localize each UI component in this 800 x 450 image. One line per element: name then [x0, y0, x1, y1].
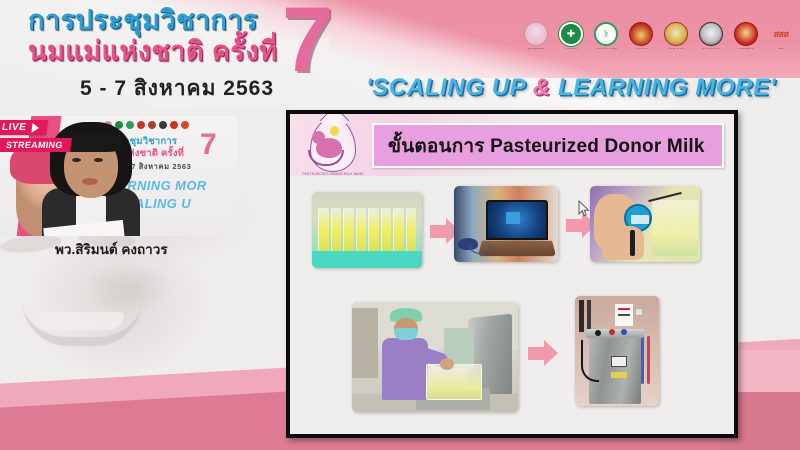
thermometer-display [631, 215, 649, 224]
milk-bottle [343, 208, 354, 252]
sponsor-logo-8: สสส สสส [768, 22, 794, 51]
slogan-suffix: LEARNING MORE' [551, 74, 776, 101]
power-hose [581, 340, 599, 382]
sponsor-logo-3-caption: กระทรวงสาธารณสุข [593, 48, 619, 51]
control-knob-black [595, 330, 601, 336]
bottle-tray [652, 200, 698, 256]
rack-base [312, 251, 422, 268]
sponsor-logo-strip: มูลนิธิศูนย์นมแม่ ✚ กรมอนามัย ⚕ กระทรวงส… [523, 22, 794, 51]
photo-nurse-loading-pasteurizer [352, 302, 518, 412]
conference-title-line1: การประชุมวิชาการ [28, 6, 277, 35]
speaker-mouth [82, 178, 98, 185]
speaker-eye-left [72, 158, 81, 162]
ministry-seal-logo [524, 22, 548, 46]
sponsor-logo-3: ⚕ กระทรวงสาธารณสุข [593, 22, 619, 51]
sponsor-logo-5: สมาคมวิชาชีพ [663, 22, 689, 51]
sponsor-logo-1: มูลนิธิศูนย์นมแม่ [523, 22, 549, 51]
poster-logo-7-icon [170, 121, 178, 129]
face-mask-icon [394, 328, 418, 340]
pipe-red [647, 336, 650, 384]
crest-shield-logo [664, 22, 688, 46]
sponsor-logo-6: สภาการพยาบาล [698, 22, 724, 51]
streaming-badge-label: STREAMING [5, 140, 63, 150]
supply-pipes [641, 336, 653, 384]
poster-logo-6-icon [159, 121, 167, 129]
equipment-label-sticker [611, 372, 627, 378]
milk-bottle [368, 208, 379, 252]
milk-bottle [356, 208, 367, 252]
milk-droplet-icon [330, 126, 339, 136]
milk-bottle [381, 208, 392, 252]
milk-bottle [393, 208, 404, 252]
royal-emblem-logo [629, 22, 653, 46]
watermark-teeth [38, 312, 124, 330]
bottle-basket [426, 364, 482, 400]
thermometer-stem [630, 230, 635, 256]
photo-milk-bottles-rack [312, 192, 422, 268]
human-milk-bank-caption: PASTEURIZED HUMAN MILK BANK [300, 172, 366, 176]
control-knob-red [609, 329, 615, 335]
sponsor-logo-5-caption: สมาคมวิชาชีพ [663, 48, 689, 51]
poster-logo-8-icon [181, 121, 189, 129]
speaker-name-label: พว.สิริมนต์ คงถาวร [55, 238, 168, 260]
photo-laptop-record [454, 186, 558, 262]
conference-title: การประชุมวิชาการ นมแม่แห่งชาติ ครั้งที่ [28, 6, 277, 65]
wall-notice-poster [615, 304, 633, 326]
slide-heading-box: ขั้นตอนการ Pasteurized Donor Milk [372, 123, 724, 168]
screen-window-icon [506, 212, 520, 224]
wall-cabinet [352, 308, 378, 378]
medical-cross-logo: ⚕ [594, 22, 618, 46]
presentation-slide-panel[interactable]: PASTEURIZED HUMAN MILK BANK ขั้นตอนการ P… [286, 110, 738, 438]
human-milk-bank-logo: PASTEURIZED HUMAN MILK BANK [300, 116, 366, 184]
live-video-inset[interactable]: การประชุมวิชาการ นมแม่แห่งชาติ ครั้งที่ … [0, 116, 238, 236]
mouse-cable [470, 242, 492, 254]
sponsor-logo-1-caption: มูลนิธิศูนย์นมแม่ [523, 48, 549, 51]
milk-bottle [406, 208, 417, 252]
slogan-prefix: 'SCALING UP [366, 74, 533, 101]
slide-heading-text: ขั้นตอนการ Pasteurized Donor Milk [388, 131, 705, 161]
control-display-panel [611, 356, 627, 367]
sponsor-logo-4: ราชวิทยาลัย [628, 22, 654, 51]
wall-rail-2 [587, 300, 591, 330]
poster-logo-5-icon [148, 121, 156, 129]
play-icon [32, 123, 40, 133]
bottle-shelf [318, 208, 416, 252]
sponsor-logo-7-caption: สถาบันสุขภาพ [733, 48, 759, 51]
live-badge-label: LIVE [1, 122, 27, 133]
poster-line-red [618, 308, 630, 310]
red-crest-logo [734, 22, 758, 46]
green-circle-logo: ✚ [559, 22, 583, 46]
conference-title-line2: นมแม่แห่งชาติ ครั้งที่ [28, 37, 277, 66]
black-seal-logo [699, 22, 723, 46]
sponsor-logo-2: ✚ กรมอนามัย [558, 22, 584, 51]
sponsor-logo-7: สถาบันสุขภาพ [733, 22, 759, 51]
sponsor-logo-6-caption: สภาการพยาบาล [698, 48, 724, 51]
control-knob-blue [621, 329, 627, 335]
poster-edition-number: 7 [200, 130, 217, 160]
photo-pasteurizer-unit [575, 296, 659, 406]
sponsor-logo-8-caption: สสส [768, 48, 794, 51]
conference-header: การประชุมวิชาการ นมแม่แห่งชาติ ครั้งที่ … [0, 0, 800, 110]
hand-lower [602, 226, 644, 260]
pipe-blue [641, 336, 644, 384]
live-badge: LIVE [0, 120, 48, 135]
conference-edition-number: 7 [282, 0, 333, 86]
sponsor-logo-2-caption: กรมอนามัย [558, 48, 584, 51]
speaker-eye-right [94, 158, 103, 162]
wall-switch-plate [635, 308, 643, 316]
milk-bottle [331, 208, 342, 252]
wall-rail [579, 300, 584, 332]
arrow-head [544, 340, 558, 366]
conference-slogan: 'SCALING UP & LEARNING MORE' [366, 74, 776, 102]
sponsor-logo-4-caption: ราชวิทยาลัย [628, 48, 654, 51]
conference-dates: 5 - 7 สิงหาคม 2563 [80, 72, 274, 105]
slogan-ampersand: & [533, 74, 551, 101]
nurse-hand [440, 358, 454, 370]
photo-thermometer-check [590, 186, 700, 262]
milk-bottle [318, 208, 329, 252]
slide-stage: การประชุมวิชาการ นมแม่แห่งชาติ ครั้งที่ … [0, 0, 800, 450]
poster-line-dark [618, 314, 630, 316]
thaihealth-logo: สสส [769, 22, 793, 46]
streaming-badge: STREAMING [0, 138, 72, 152]
